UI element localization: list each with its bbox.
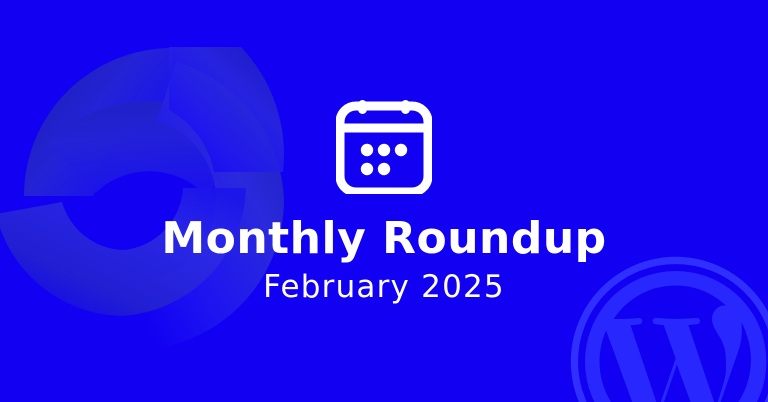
page-subtitle: February 2025 <box>263 270 505 304</box>
banner-canvas: Monthly Roundup February 2025 <box>0 0 768 402</box>
center-content: Monthly Roundup February 2025 <box>0 0 768 402</box>
page-title: Monthly Roundup <box>161 216 606 262</box>
calendar-icon <box>336 98 432 194</box>
